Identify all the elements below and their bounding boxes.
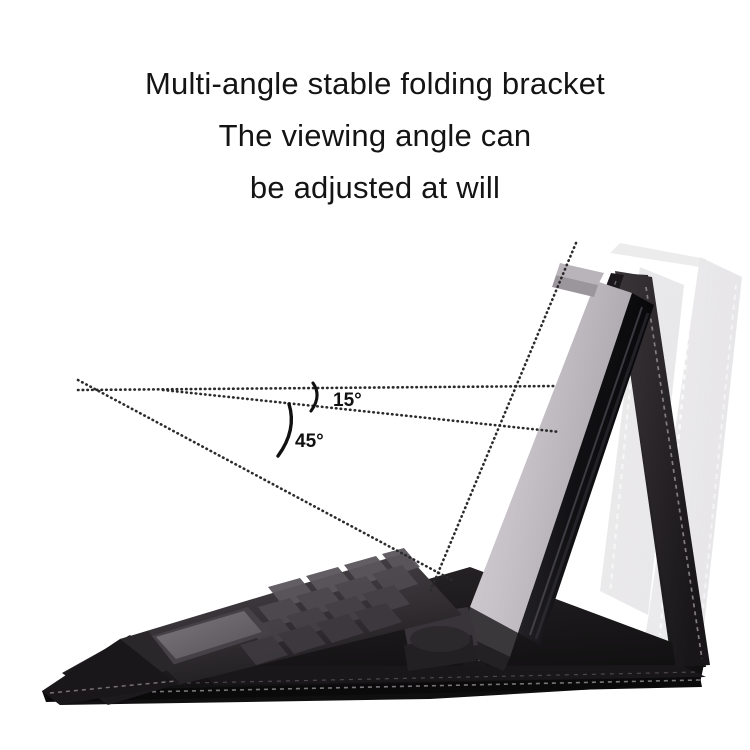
- headline-line-3: be adjusted at will: [0, 162, 750, 214]
- headline-block: Multi-angle stable folding bracket The v…: [0, 58, 750, 214]
- product-marketing-image: Multi-angle stable folding bracket The v…: [0, 0, 750, 750]
- headline-line-1: Multi-angle stable folding bracket: [0, 58, 750, 110]
- product-photo: [0, 215, 750, 750]
- headline-line-2: The viewing angle can: [0, 110, 750, 162]
